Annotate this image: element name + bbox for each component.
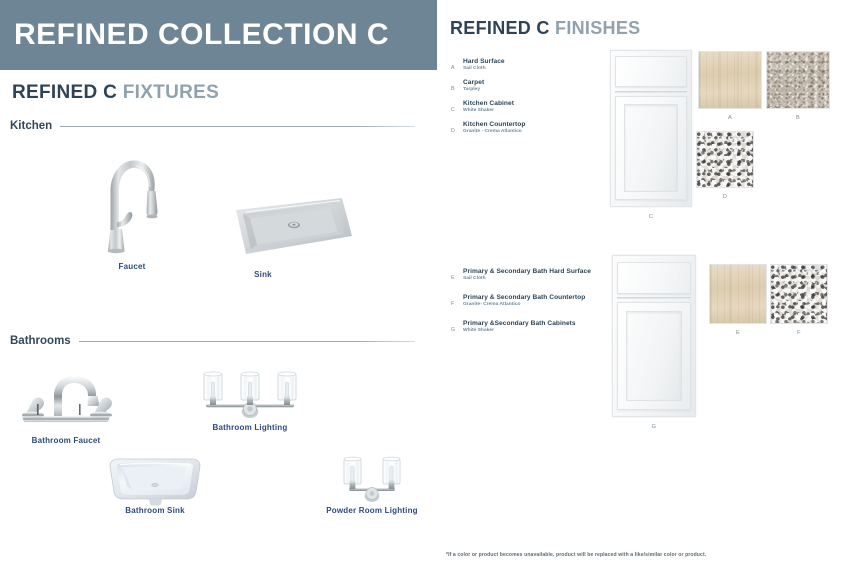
- legend-sub: White Shaker: [463, 108, 514, 113]
- footer-disclaimer: *If a color or product becomes unavailab…: [446, 552, 706, 558]
- sample-key-f: F: [770, 330, 828, 336]
- legend-key: A: [451, 58, 463, 71]
- legend-sub: Sail Cloth: [463, 66, 505, 71]
- swatch-e-bath-hard-surface: E: [709, 264, 767, 324]
- fixture-caption-bathroom-faucet: Bathroom Faucet: [8, 436, 124, 445]
- section-divider-bathrooms: Bathrooms: [10, 335, 415, 347]
- legend-key: E: [451, 268, 463, 281]
- sample-key-e: E: [709, 330, 767, 336]
- fixture-caption-sink: Sink: [216, 270, 310, 279]
- cabinet-reveal: [615, 91, 687, 93]
- legend-key: B: [451, 79, 463, 92]
- three-light-vanity-icon: [196, 366, 304, 420]
- two-light-vanity-icon: [336, 452, 408, 504]
- cabinet-drawer-front: [615, 56, 687, 87]
- legend-sub: Tarpley: [463, 87, 484, 92]
- wood-plank-texture: [709, 264, 767, 324]
- sample-key-c: C: [610, 214, 692, 220]
- legend-key: C: [451, 100, 463, 113]
- board-title-band: REFINED COLLECTION C: [0, 0, 437, 70]
- legend-primary: A Hard Surface Sail Cloth B Carpet Tarpl…: [451, 58, 571, 141]
- legend-name: Primary & Secondary Bath Hard Surface: [463, 268, 591, 275]
- cabinet-sample-c: C: [610, 50, 692, 207]
- cabinet-drawer-front: [617, 262, 691, 294]
- legend-secondary: E Primary & Secondary Bath Hard Surface …: [451, 268, 616, 341]
- legend-name: Kitchen Cabinet: [463, 100, 514, 107]
- legend-item: C Kitchen Cabinet White Shaker: [451, 100, 571, 114]
- fixture-caption-bathroom-lighting: Bathroom Lighting: [196, 423, 304, 432]
- finishes-heading: REFINED C FINISHES: [450, 18, 640, 39]
- legend-key: G: [451, 320, 463, 333]
- swatch-a-hard-surface: A: [698, 51, 762, 109]
- finishes-heading-strong: REFINED C: [450, 18, 550, 38]
- legend-item: A Hard Surface Sail Cloth: [451, 58, 571, 72]
- legend-name: Kitchen Countertop: [463, 121, 525, 128]
- granite-texture: [770, 264, 828, 324]
- legend-sub: Sail Cloth: [463, 276, 591, 281]
- swatch-f-bath-countertop: F: [770, 264, 828, 324]
- bathroom-faucet-icon: [8, 362, 124, 428]
- finishes-heading-light: FINISHES: [555, 18, 640, 38]
- granite-texture: [696, 131, 754, 188]
- legend-item: D Kitchen Countertop Granite - Crema Atl…: [451, 121, 571, 135]
- section-label-kitchen: Kitchen: [10, 120, 60, 132]
- sample-key-g: G: [612, 424, 696, 430]
- cabinet-recessed-panel: [626, 311, 682, 401]
- fixture-caption-powder-room-lighting: Powder Room Lighting: [322, 506, 422, 515]
- cabinet-door-front: [615, 96, 687, 200]
- section-label-bathrooms: Bathrooms: [10, 335, 79, 347]
- sample-key-a: A: [698, 115, 762, 121]
- finishes-panel: REFINED C FINISHES A Hard Surface Sail C…: [437, 0, 853, 569]
- legend-name: Primary & Secondary Bath Countertop: [463, 294, 585, 301]
- legend-name: Primary &Secondary Bath Cabinets: [463, 320, 576, 327]
- legend-item: E Primary & Secondary Bath Hard Surface …: [451, 268, 616, 282]
- kitchen-faucet-icon: [88, 133, 176, 258]
- fixture-caption-faucet: Faucet: [88, 262, 176, 271]
- legend-sub: Granite- Crema Atlantico: [463, 302, 585, 307]
- cabinet-door-render: [610, 50, 692, 207]
- legend-name: Hard Surface: [463, 58, 505, 65]
- wood-plank-texture: [698, 51, 762, 109]
- fixtures-heading-light: FIXTURES: [123, 82, 219, 103]
- cabinet-sample-g: G: [612, 255, 696, 417]
- legend-name: Carpet: [463, 79, 484, 86]
- sample-key-b: B: [766, 115, 830, 121]
- bathroom-sink-icon: [100, 452, 210, 508]
- swatch-d-kitchen-countertop: D: [696, 131, 754, 188]
- cabinet-recessed-panel: [624, 104, 679, 192]
- fixture-caption-bathroom-sink: Bathroom Sink: [100, 506, 210, 515]
- fixtures-panel: REFINED COLLECTION C REFINED C FIXTURES …: [0, 0, 437, 569]
- divider-line: [60, 126, 415, 127]
- legend-sub: White Shaker: [463, 328, 576, 333]
- fixtures-heading: REFINED C FIXTURES: [12, 82, 219, 104]
- legend-item: F Primary & Secondary Bath Countertop Gr…: [451, 294, 616, 308]
- cabinet-reveal: [617, 297, 691, 300]
- legend-sub: Granite - Crema Atlantico: [463, 129, 525, 134]
- kitchen-sink-icon: [216, 192, 356, 268]
- section-divider-kitchen: Kitchen: [10, 120, 415, 132]
- carpet-texture: [766, 51, 830, 109]
- legend-key: F: [451, 294, 463, 307]
- legend-key: D: [451, 121, 463, 134]
- swatch-b-carpet: B: [766, 51, 830, 109]
- fixtures-heading-strong: REFINED C: [12, 82, 117, 103]
- legend-item: B Carpet Tarpley: [451, 79, 571, 93]
- cabinet-door-front: [617, 302, 691, 409]
- sample-key-d: D: [696, 194, 754, 200]
- legend-item: G Primary &Secondary Bath Cabinets White…: [451, 320, 616, 334]
- divider-line: [79, 341, 415, 342]
- page-title: REFINED COLLECTION C: [0, 18, 389, 52]
- cabinet-door-render: [612, 255, 696, 417]
